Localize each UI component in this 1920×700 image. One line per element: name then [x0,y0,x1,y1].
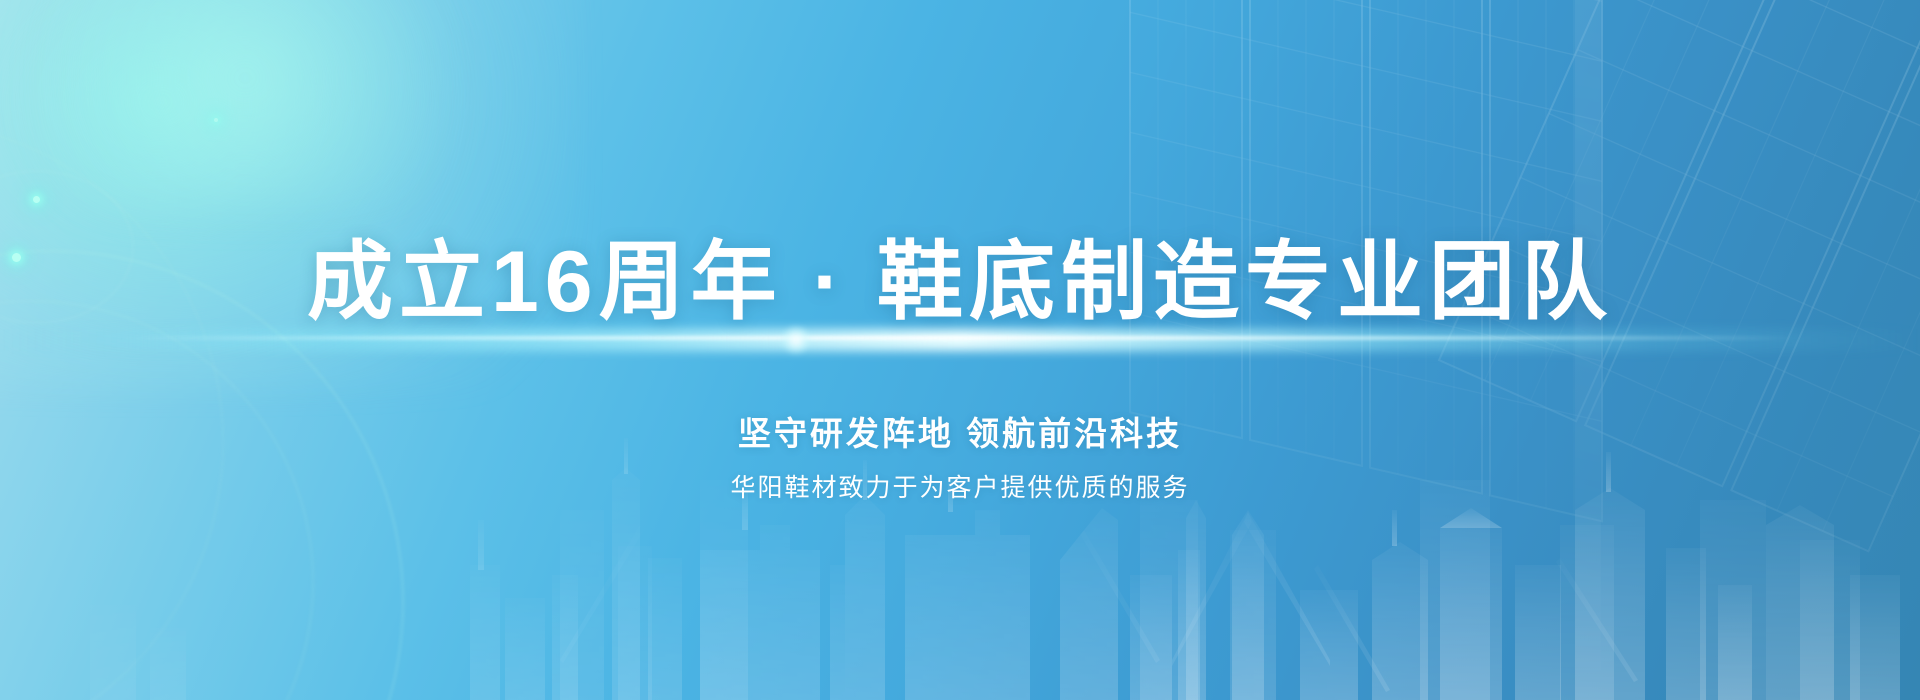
background-decoration [0,0,1920,700]
teal-glow-icon [0,0,580,390]
hero-banner: 成立16周年 · 鞋底制造专业团队 坚守研发阵地 领航前沿科技 华阳鞋材致力于为… [0,0,1920,700]
hero-headline: 成立16周年 · 鞋底制造专业团队 [0,234,1920,330]
hero-description: 华阳鞋材致力于为客户提供优质的服务 [0,468,1920,504]
teal-glow-inner-icon [30,0,460,210]
light-beam-core-icon [120,336,1800,340]
light-particle-icon [214,118,218,122]
hero-subheadline: 坚守研发阵地 领航前沿科技 [0,407,1920,455]
glass-skyscraper-facade-icon [1120,0,1920,670]
light-particle-icon [33,196,40,203]
light-beam-icon [0,329,1920,351]
